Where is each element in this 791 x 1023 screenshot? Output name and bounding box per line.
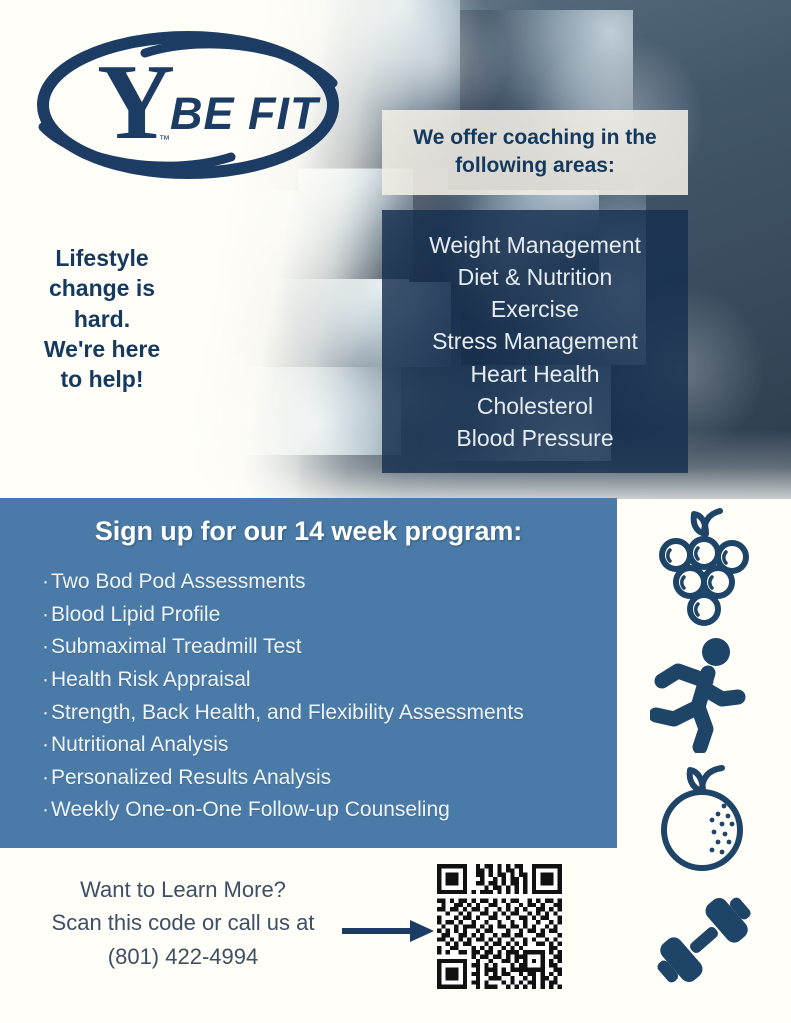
tagline-line-2: change is: [26, 273, 178, 303]
qr-code[interactable]: [437, 864, 562, 989]
coaching-area-item: Blood Pressure: [456, 422, 613, 454]
coaching-heading-line-1: We offer coaching in the: [392, 124, 678, 152]
coaching-area-item: Cholesterol: [477, 390, 593, 422]
runner-icon: [617, 636, 791, 754]
coaching-area-item: Weight Management: [429, 229, 641, 261]
tagline: Lifestyle change is hard. We're here to …: [26, 243, 178, 395]
coaching-header-box: We offer coaching in the following areas…: [382, 110, 688, 195]
logo-wordmark: BE FIT: [170, 88, 321, 139]
logo-trademark: ™: [159, 134, 170, 146]
program-list: Two Bod Pod Assessments Blood Lipid Prof…: [0, 566, 617, 827]
flyer-page: Y ™ BE FIT Lifestyle change is hard. We'…: [0, 0, 791, 1023]
coaching-area-item: Diet & Nutrition: [458, 261, 613, 293]
program-list-item: Nutritional Analysis: [42, 729, 617, 762]
coaching-area-item: Heart Health: [470, 358, 599, 390]
program-list-item: Blood Lipid Profile: [42, 599, 617, 632]
arrow-right-icon: [340, 918, 436, 944]
coaching-areas-box: Weight Management Diet & Nutrition Exerc…: [382, 210, 688, 473]
contact-text: Want to Learn More? Scan this code or ca…: [18, 873, 348, 973]
program-list-item: Weekly One-on-One Follow-up Counseling: [42, 794, 617, 827]
program-list-item: Submaximal Treadmill Test: [42, 631, 617, 664]
orange-icon: [617, 762, 791, 874]
coaching-heading-line-2: following areas:: [392, 152, 678, 180]
program-list-item: Personalized Results Analysis: [42, 762, 617, 795]
tagline-line-5: to help!: [26, 364, 178, 394]
program-list-item: Health Risk Appraisal: [42, 664, 617, 697]
y-be-fit-logo: Y ™ BE FIT: [33, 25, 343, 185]
program-list-item: Strength, Back Health, and Flexibility A…: [42, 697, 617, 730]
contact-line-1: Want to Learn More?: [18, 873, 348, 906]
tagline-line-1: Lifestyle: [26, 243, 178, 273]
dumbbell-icon: [617, 882, 791, 998]
program-title: Sign up for our 14 week program:: [0, 516, 617, 547]
grapes-icon: [617, 504, 791, 628]
coaching-area-item: Stress Management: [432, 325, 638, 357]
program-list-item: Two Bod Pod Assessments: [42, 566, 617, 599]
coaching-area-item: Exercise: [491, 293, 579, 325]
program-band: Sign up for our 14 week program: Two Bod…: [0, 498, 617, 848]
contact-line-2: Scan this code or call us at: [18, 906, 348, 939]
tagline-line-4: We're here: [26, 334, 178, 364]
tagline-line-3: hard.: [26, 304, 178, 334]
contact-phone: (801) 422-4994: [18, 940, 348, 973]
icon-column: [617, 498, 791, 1023]
